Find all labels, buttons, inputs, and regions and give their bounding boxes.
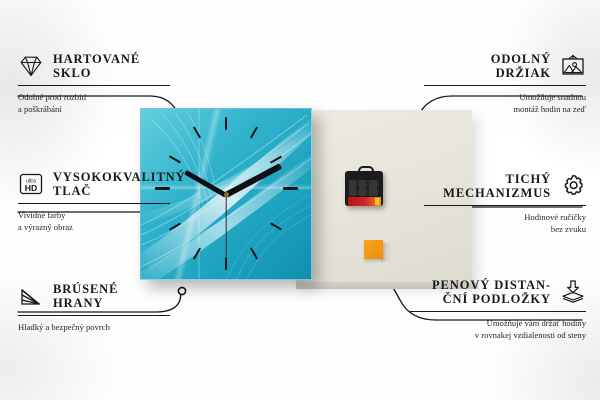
divider [424,205,586,206]
second-hand [225,194,226,256]
feature-description: Odolné proti rozbití a poškrábání [18,91,170,116]
feature-description: Umožňuje snadnou montáž hodin na zeď [424,91,586,116]
infographic-canvas: HARTOVANÉ SKLO Odolné proti rozbití a po… [0,0,600,400]
picture-frame-hanger-icon [560,53,586,79]
arrow-onto-layers-icon [560,279,586,305]
divider [18,315,170,316]
diamond-icon [18,53,44,79]
feature-high-quality-print: ultra HD VYSOKOKVALITNÝ TLAČ Vividné far… [18,170,170,234]
divider [410,311,586,312]
feature-title: ODOLNÝ DRŽIAK [491,52,551,80]
clock-tick [225,257,227,270]
foam-pad [364,240,383,259]
svg-text:HD: HD [25,183,37,193]
diagonal-lines-icon [18,283,44,309]
clock-movement [345,166,383,206]
feature-title: TICHÝ MECHANIZMUS [443,172,551,200]
feature-durable-holder: ODOLNÝ DRŽIAK Umožňuje snadnou montáž ho… [424,52,586,116]
feature-title: BRÚSENÉ HRANY [53,282,118,310]
movement-battery [348,197,381,206]
feature-title: HARTOVANÉ SKLO [53,52,140,80]
ultra-hd-icon: ultra HD [18,171,44,197]
feature-title: VYSOKOKVALITNÝ TLAČ [53,170,186,198]
divider [18,85,170,86]
feature-foam-spacers: PENOVÝ DISTAN- ČNÍ PODLOŽKY Umožňuje vám… [410,278,586,342]
gear-icon [560,173,586,199]
feature-description: Hodinové ručičky bez zvuku [424,211,586,236]
feature-tempered-glass: HARTOVANÉ SKLO Odolné proti rozbití a po… [18,52,170,116]
feature-silent-mechanism: TICHÝ MECHANIZMUS Hodinové ručičky bez z… [424,172,586,236]
clock-center-pin [224,192,229,197]
clock-tick [283,187,298,190]
divider [424,85,586,86]
movement-texture [349,180,379,196]
movement-body [345,171,383,206]
feature-title: PENOVÝ DISTAN- ČNÍ PODLOŽKY [432,278,551,306]
feature-description: Umožňuje vám držať hodiny v rovnakej vzd… [410,317,586,342]
connector-endpoint [178,287,185,294]
feature-description: Vividné farby a výrazný obraz [18,209,170,234]
divider [18,203,170,204]
clock-tick [225,117,227,130]
feature-description: Hladký a bezpečný povrch [18,321,170,333]
feature-polished-edges: BRÚSENÉ HRANY Hladký a bezpečný povrch [18,282,170,333]
